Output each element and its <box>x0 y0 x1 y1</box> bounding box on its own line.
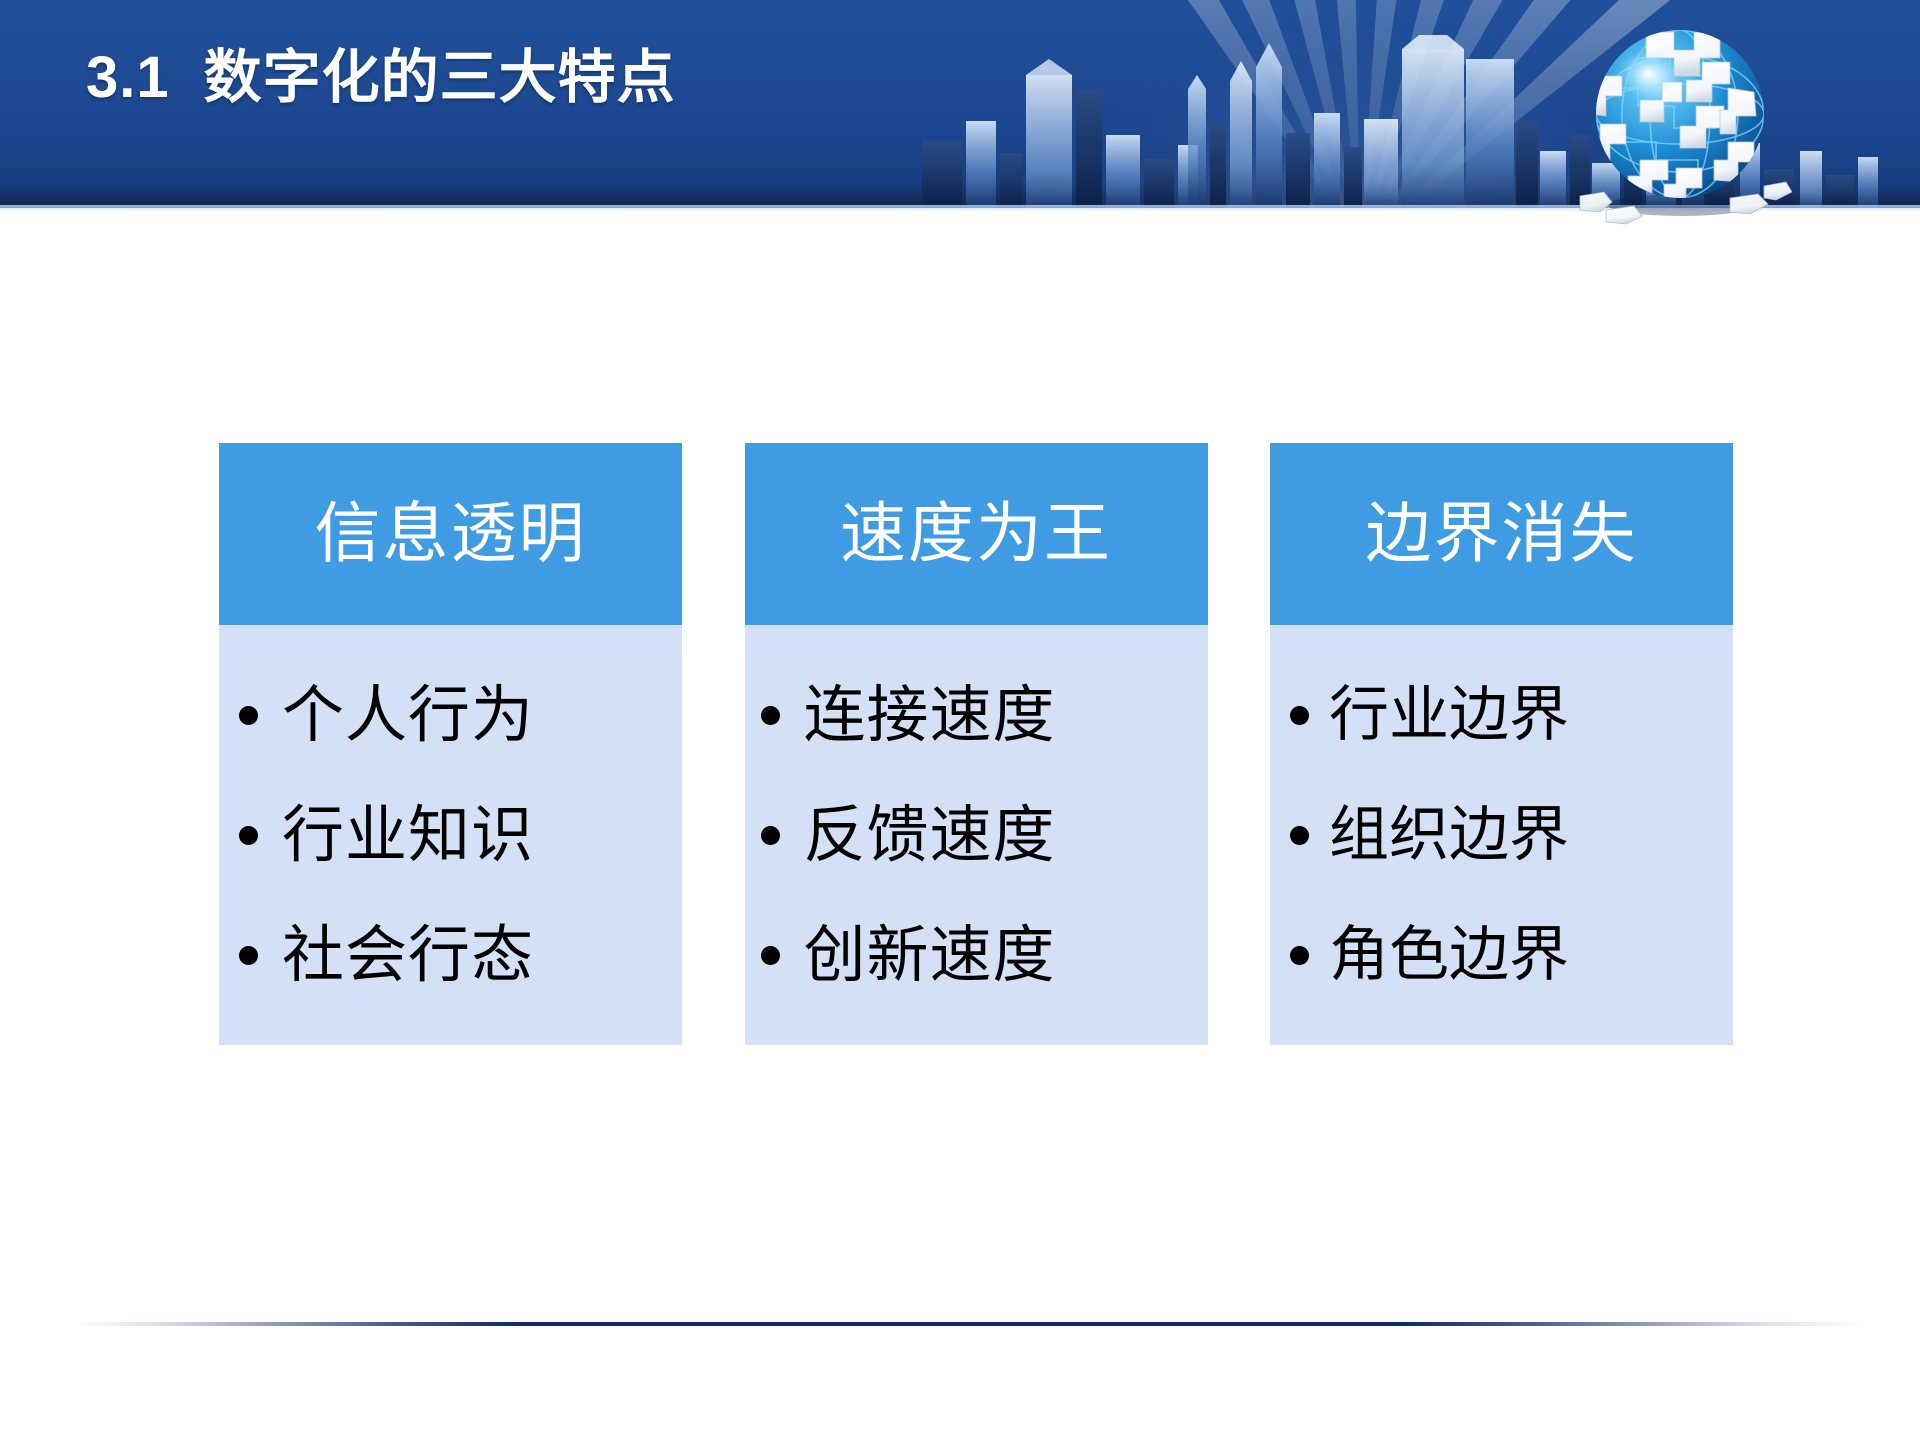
bullet-list-2: 连接速度 反馈速度 创新速度 <box>745 655 1208 1015</box>
list-item-label: 创新速度 <box>804 924 1056 986</box>
banner-bottom-glow <box>0 205 1920 212</box>
list-item: 行业边界 <box>1270 655 1733 775</box>
column-header-2: 速度为王 <box>745 443 1208 625</box>
list-item: 连接速度 <box>745 655 1208 775</box>
bullet-dot-icon <box>761 946 780 965</box>
slide: 3.1数字化的三大特点 <box>0 0 1920 1440</box>
list-item: 社会行态 <box>219 895 682 1015</box>
title-number: 3.1 <box>86 45 170 110</box>
list-item-label: 社会行态 <box>282 924 534 986</box>
list-item: 行业知识 <box>219 775 682 895</box>
bullet-dot-icon <box>239 826 258 845</box>
list-item-label: 连接速度 <box>804 684 1056 746</box>
list-item: 组织边界 <box>1270 775 1733 895</box>
feature-columns: 信息透明 个人行为 行业知识 社会行态 <box>219 443 1733 1045</box>
bullet-list-1: 个人行为 行业知识 社会行态 <box>219 655 682 1015</box>
bullet-dot-icon <box>239 946 258 965</box>
bullet-dot-icon <box>239 706 258 725</box>
column-body-3: 行业边界 组织边界 角色边界 <box>1270 625 1733 1045</box>
bullet-dot-icon <box>1290 946 1309 965</box>
list-item-label: 个人行为 <box>282 684 534 746</box>
list-item-label: 反馈速度 <box>804 804 1056 866</box>
column-header-1: 信息透明 <box>219 443 682 625</box>
list-item: 创新速度 <box>745 895 1208 1015</box>
column-header-3: 边界消失 <box>1270 443 1733 625</box>
list-item-label: 行业知识 <box>282 804 534 866</box>
light-rays-icon <box>980 0 1740 208</box>
title-banner: 3.1数字化的三大特点 <box>0 0 1920 208</box>
feature-column-speed-is-king: 速度为王 连接速度 反馈速度 创新速度 <box>745 443 1208 1045</box>
list-item: 角色边界 <box>1270 895 1733 1015</box>
title-text: 数字化的三大特点 <box>204 45 676 110</box>
cityscape-skyline-icon <box>900 23 1920 208</box>
footer-divider <box>0 1322 1920 1326</box>
feature-column-boundaries-disappear: 边界消失 行业边界 组织边界 角色边界 <box>1270 443 1733 1045</box>
bullet-dot-icon <box>761 826 780 845</box>
bullet-list-3: 行业边界 组织边界 角色边界 <box>1270 655 1733 1015</box>
list-item-label: 角色边界 <box>1329 925 1569 985</box>
column-body-1: 个人行为 行业知识 社会行态 <box>219 625 682 1045</box>
list-item: 反馈速度 <box>745 775 1208 895</box>
bullet-dot-icon <box>1290 826 1309 845</box>
column-body-2: 连接速度 反馈速度 创新速度 <box>745 625 1208 1045</box>
page-title: 3.1数字化的三大特点 <box>86 30 676 114</box>
list-item-label: 组织边界 <box>1329 805 1569 865</box>
list-item: 个人行为 <box>219 655 682 775</box>
bullet-dot-icon <box>761 706 780 725</box>
feature-column-information-transparency: 信息透明 个人行为 行业知识 社会行态 <box>219 443 682 1045</box>
list-item-label: 行业边界 <box>1329 685 1569 745</box>
bullet-dot-icon <box>1290 706 1309 725</box>
